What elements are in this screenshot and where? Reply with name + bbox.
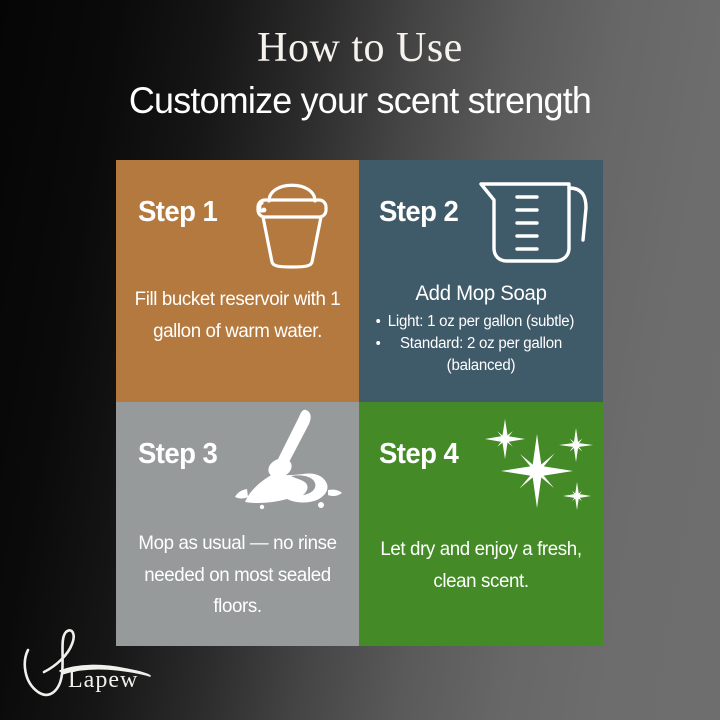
page-title: How to Use: [0, 24, 720, 72]
step-3-body: Mop as usual — no rinse needed on most s…: [134, 528, 340, 623]
bullet-text: Light: 1 oz per gallon (subtle): [388, 313, 574, 330]
step-card-1: Step 1 Fill bucket reservoir with 1 gall…: [116, 160, 359, 402]
bucket-icon: [233, 168, 351, 272]
step-2-bullet-list: Light: 1 oz per gallon (subtle) Standard…: [369, 311, 593, 377]
step-1-label: Step 1: [138, 196, 217, 229]
step-1-body: Fill bucket reservoir with 1 gallon of w…: [134, 284, 340, 347]
mop-icon: [229, 404, 353, 512]
brand-logo: Lapew: [16, 624, 196, 706]
steps-grid: Step 1 Fill bucket reservoir with 1 gall…: [116, 160, 603, 646]
step-2-content: Add Mop Soap Light: 1 oz per gallon (sub…: [369, 280, 593, 377]
step-card-2: Step 2 Add Mop Soap Light: 1 oz: [359, 160, 603, 402]
sparkles-icon: [471, 406, 601, 520]
page-subtitle: Customize your scent strength: [11, 78, 709, 124]
brand-wordmark: Lapew: [68, 667, 138, 694]
list-item: Light: 1 oz per gallon (subtle): [372, 311, 589, 333]
measuring-cup-icon: [473, 170, 599, 270]
step-2-label: Step 2: [379, 196, 458, 229]
step-4-body: Let dry and enjoy a fresh, clean scent.: [377, 534, 584, 597]
bullet-dot-icon: [376, 341, 380, 345]
header: How to Use Customize your scent strength: [0, 24, 720, 125]
bullet-dot-icon: [376, 319, 380, 323]
step-card-4: Step 4 Let dry and enjoy a fre: [359, 402, 603, 646]
list-item: Standard: 2 oz per gallon (balanced): [372, 333, 589, 377]
infographic-canvas: How to Use Customize your scent strength…: [0, 0, 720, 720]
step-3-label: Step 3: [138, 438, 217, 471]
step-2-heading: Add Mop Soap: [372, 280, 589, 307]
bullet-text: Standard: 2 oz per gallon (balanced): [400, 335, 562, 374]
step-card-3: Step 3 Mop as usual — no rinse needed on…: [116, 402, 359, 646]
step-4-label: Step 4: [379, 438, 458, 471]
